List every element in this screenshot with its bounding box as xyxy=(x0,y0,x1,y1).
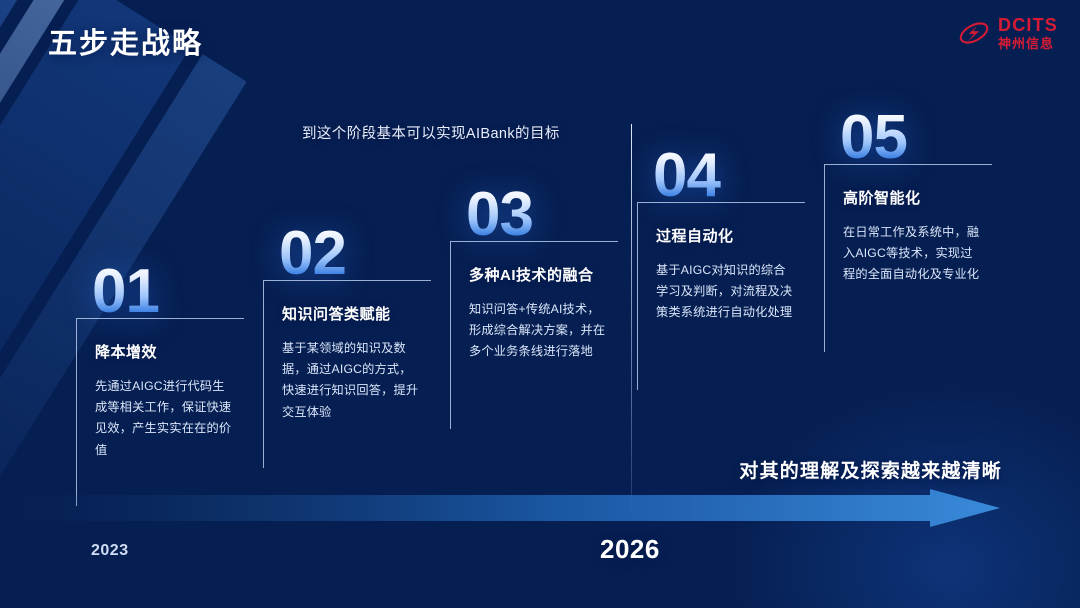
step-heading: 多种AI技术的融合 xyxy=(469,264,610,285)
step-body: 知识问答+传统AI技术，形成综合解决方案，并在多个业务条线进行落地 xyxy=(469,299,610,363)
step-number: 03 xyxy=(466,185,618,245)
brand-logo: DCITS 神州信息 xyxy=(957,16,1058,50)
step-body: 基于AIGC对知识的综合学习及判断，对流程及决策类系统进行自动化处理 xyxy=(656,260,797,324)
timeline-year-start: 2023 xyxy=(91,542,129,560)
swirl-icon xyxy=(957,16,991,50)
step-body: 先通过AIGC进行代码生成等相关工作，保证快速见效，产生实实在在的价值 xyxy=(95,376,236,461)
step-number: 04 xyxy=(653,146,805,206)
logo-text-cn: 神州信息 xyxy=(998,37,1058,50)
slide-canvas: 五步走战略 DCITS 神州信息 到这个阶段基本可以实现AIBank的目标 01… xyxy=(0,0,1080,608)
step-number: 05 xyxy=(840,108,992,168)
step-heading: 知识问答类赋能 xyxy=(282,303,423,324)
vertical-divider-line xyxy=(631,124,632,512)
step-body: 在日常工作及系统中，融入AIGC等技术，实现过程的全面自动化及专业化 xyxy=(843,222,984,286)
step-card-05[interactable]: 05 高阶智能化 在日常工作及系统中，融入AIGC等技术，实现过程的全面自动化及… xyxy=(824,108,992,352)
logo-text-en: DCITS xyxy=(998,16,1058,34)
stage-annotation: 到这个阶段基本可以实现AIBank的目标 xyxy=(302,122,560,143)
step-card-03[interactable]: 03 多种AI技术的融合 知识问答+传统AI技术，形成综合解决方案，并在多个业务… xyxy=(450,185,618,429)
timeline-arrow-label: 对其的理解及探索越来越清晰 xyxy=(739,456,1002,483)
page-title: 五步走战略 xyxy=(48,20,203,62)
timeline-year-end: 2026 xyxy=(600,534,660,565)
timeline-arrow xyxy=(0,489,1000,527)
step-card-04[interactable]: 04 过程自动化 基于AIGC对知识的综合学习及判断，对流程及决策类系统进行自动… xyxy=(637,146,805,390)
step-card-02[interactable]: 02 知识问答类赋能 基于某领域的知识及数据，通过AIGC的方式，快速进行知识回… xyxy=(263,224,431,468)
step-number: 02 xyxy=(279,224,431,284)
step-heading: 高阶智能化 xyxy=(843,187,984,208)
step-body: 基于某领域的知识及数据，通过AIGC的方式，快速进行知识回答，提升交互体验 xyxy=(282,338,423,423)
step-heading: 过程自动化 xyxy=(656,225,797,246)
step-number: 01 xyxy=(92,262,244,322)
step-card-01[interactable]: 01 降本增效 先通过AIGC进行代码生成等相关工作，保证快速见效，产生实实在在… xyxy=(76,262,244,506)
step-heading: 降本增效 xyxy=(95,341,236,362)
